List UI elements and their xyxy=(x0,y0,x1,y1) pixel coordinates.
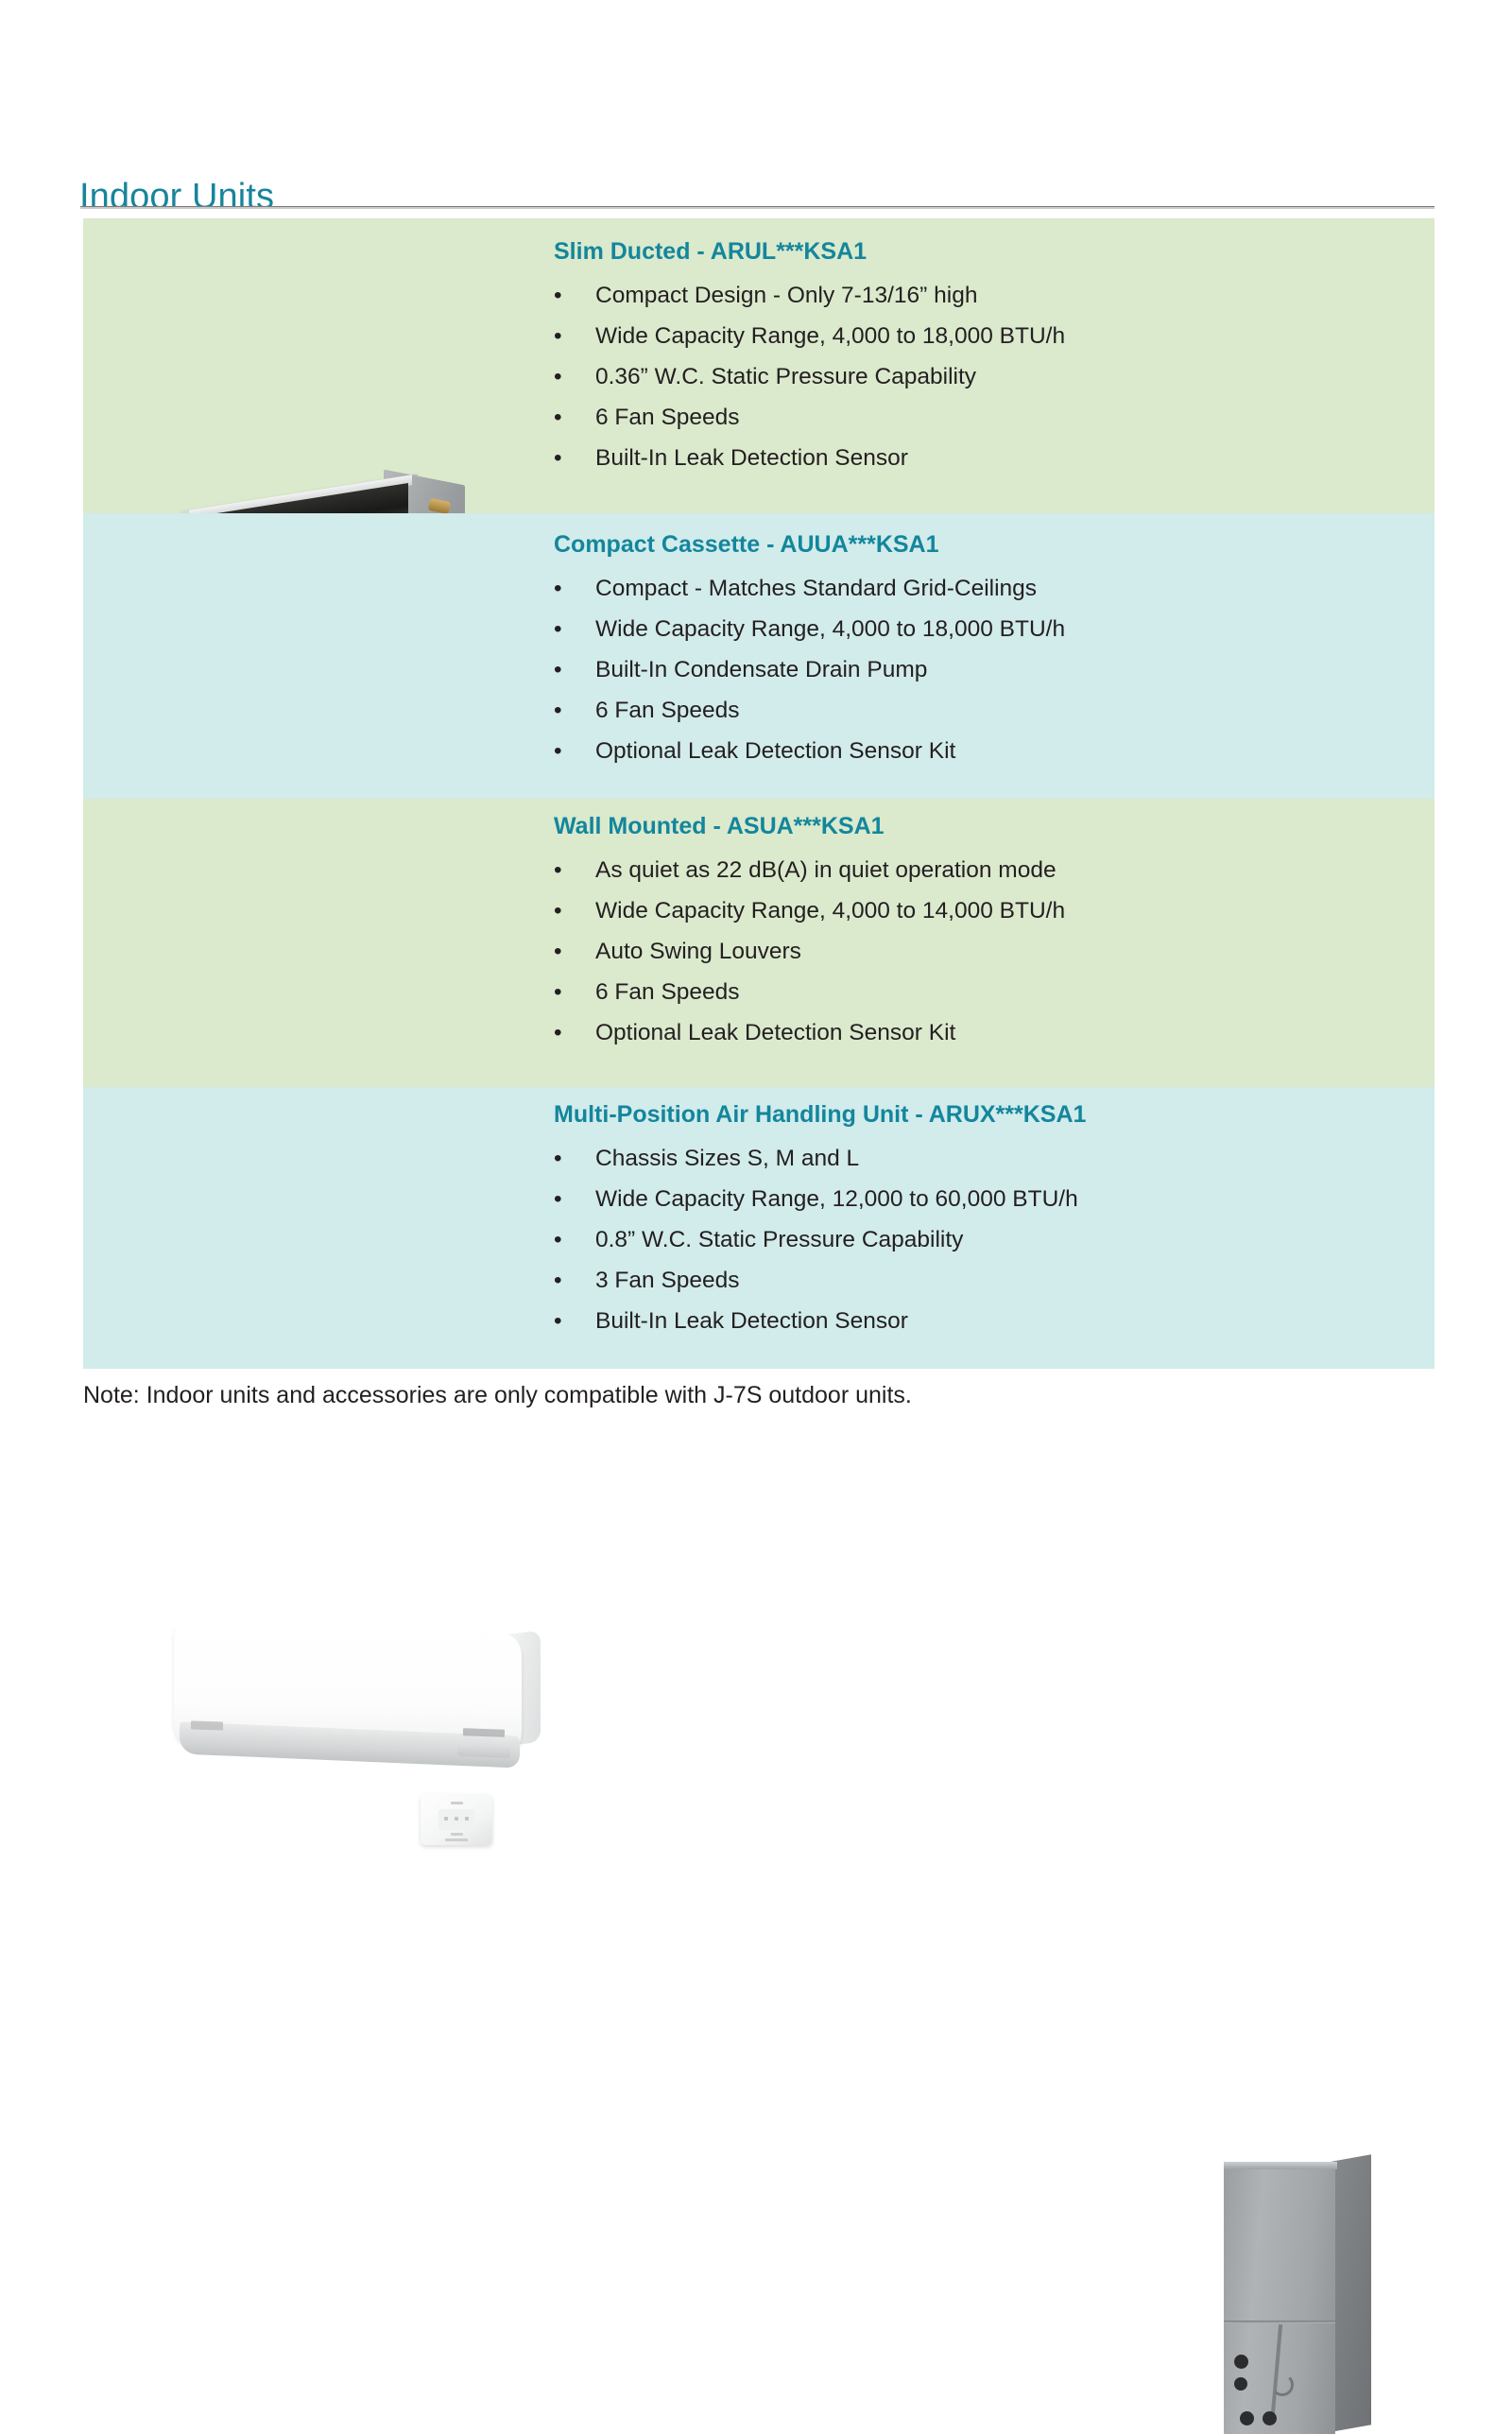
feature-text: Auto Swing Louvers xyxy=(595,939,801,964)
feature-list: • Compact - Matches Standard Grid-Ceilin… xyxy=(554,568,1140,771)
bullet-icon: • xyxy=(554,1138,562,1179)
feature-text: 0.36” W.C. Static Pressure Capability xyxy=(595,364,976,389)
feature-text: Built-In Condensate Drain Pump xyxy=(595,657,927,682)
bullet-icon: • xyxy=(554,931,562,972)
feature-item: • 6 Fan Speeds xyxy=(554,397,1140,438)
unit-text-air-handler: Multi-Position Air Handling Unit - ARUX*… xyxy=(554,1100,1140,1341)
feature-text: 3 Fan Speeds xyxy=(595,1268,740,1293)
title-divider xyxy=(80,206,1435,209)
feature-item: • Compact - Matches Standard Grid-Ceilin… xyxy=(554,568,1140,609)
bullet-icon: • xyxy=(554,609,562,649)
feature-item: • Wide Capacity Range, 4,000 to 14,000 B… xyxy=(554,890,1140,931)
feature-item: • Auto Swing Louvers xyxy=(554,931,1140,972)
feature-text: Built-In Leak Detection Sensor xyxy=(595,445,908,471)
bullet-icon: • xyxy=(554,275,562,316)
feature-list: • Compact Design - Only 7-13/16” high • … xyxy=(554,275,1140,478)
feature-item: • Built-In Condensate Drain Pump xyxy=(554,649,1140,690)
feature-text: Compact Design - Only 7-13/16” high xyxy=(595,283,977,308)
feature-item: • Built-In Leak Detection Sensor xyxy=(554,438,1140,478)
unit-heading: Wall Mounted - ASUA***KSA1 xyxy=(554,812,1140,840)
bullet-icon: • xyxy=(554,356,562,397)
feature-text: 6 Fan Speeds xyxy=(595,698,740,723)
feature-text: Wide Capacity Range, 4,000 to 14,000 BTU… xyxy=(595,898,1065,924)
bullet-icon: • xyxy=(554,316,562,356)
feature-text: Chassis Sizes S, M and L xyxy=(595,1146,859,1171)
feature-text: 0.8” W.C. Static Pressure Capability xyxy=(595,1227,963,1252)
unit-heading: Multi-Position Air Handling Unit - ARUX*… xyxy=(554,1100,1140,1129)
feature-item: • Chassis Sizes S, M and L xyxy=(554,1138,1140,1179)
wall-controller-icon xyxy=(421,1794,492,1845)
bullet-icon: • xyxy=(554,1179,562,1219)
unit-heading: Slim Ducted - ARUL***KSA1 xyxy=(554,237,1140,266)
bullet-icon: • xyxy=(554,731,562,771)
bullet-icon: • xyxy=(554,397,562,438)
unit-section-wall-mounted: Wall Mounted - ASUA***KSA1 • As quiet as… xyxy=(83,799,1435,1087)
bullet-icon: • xyxy=(554,850,562,890)
page-title: Indoor Units xyxy=(79,178,274,217)
unit-heading: Compact Cassette - AUUA***KSA1 xyxy=(554,530,1140,559)
feature-item: • 3 Fan Speeds xyxy=(554,1260,1140,1301)
bullet-icon: • xyxy=(554,568,562,609)
feature-text: Built-In Leak Detection Sensor xyxy=(595,1308,908,1334)
bullet-icon: • xyxy=(554,690,562,731)
bullet-icon: • xyxy=(554,1219,562,1260)
bullet-icon: • xyxy=(554,649,562,690)
feature-item: • Wide Capacity Range, 4,000 to 18,000 B… xyxy=(554,609,1140,649)
indoor-units-page: Indoor Units Slim Ducted - ARUL***KSA1 •… xyxy=(0,0,1512,1512)
feature-text: 6 Fan Speeds xyxy=(595,979,740,1005)
feature-text: Wide Capacity Range, 4,000 to 18,000 BTU… xyxy=(595,616,1065,642)
feature-text: Wide Capacity Range, 12,000 to 60,000 BT… xyxy=(595,1186,1078,1212)
feature-item: • Compact Design - Only 7-13/16” high xyxy=(554,275,1140,316)
wall-mounted-unit-photo xyxy=(174,1623,544,1776)
bullet-icon: • xyxy=(554,1012,562,1053)
air-handler-unit-photo xyxy=(1224,2158,1371,2434)
feature-item: • Built-In Leak Detection Sensor xyxy=(554,1301,1140,1341)
feature-item: • 0.8” W.C. Static Pressure Capability xyxy=(554,1219,1140,1260)
feature-item: • 6 Fan Speeds xyxy=(554,690,1140,731)
feature-item: • Wide Capacity Range, 4,000 to 18,000 B… xyxy=(554,316,1140,356)
unit-text-compact-cassette: Compact Cassette - AUUA***KSA1 • Compact… xyxy=(554,530,1140,771)
unit-text-wall-mounted: Wall Mounted - ASUA***KSA1 • As quiet as… xyxy=(554,812,1140,1053)
bullet-icon: • xyxy=(554,1301,562,1341)
feature-text: Wide Capacity Range, 4,000 to 18,000 BTU… xyxy=(595,323,1065,349)
unit-section-slim-ducted: Slim Ducted - ARUL***KSA1 • Compact Desi… xyxy=(83,218,1435,513)
feature-text: Optional Leak Detection Sensor Kit xyxy=(595,1020,955,1045)
feature-list: • As quiet as 22 dB(A) in quiet operatio… xyxy=(554,850,1140,1053)
feature-item: • As quiet as 22 dB(A) in quiet operatio… xyxy=(554,850,1140,890)
bullet-icon: • xyxy=(554,972,562,1012)
bullet-icon: • xyxy=(554,890,562,931)
feature-text: 6 Fan Speeds xyxy=(595,405,740,430)
bullet-icon: • xyxy=(554,438,562,478)
feature-text: Compact - Matches Standard Grid-Ceilings xyxy=(595,576,1037,601)
unit-section-air-handler: Multi-Position Air Handling Unit - ARUX*… xyxy=(83,1087,1435,1369)
unit-section-compact-cassette: Compact Cassette - AUUA***KSA1 • Compact… xyxy=(83,513,1435,799)
unit-text-slim-ducted: Slim Ducted - ARUL***KSA1 • Compact Desi… xyxy=(554,237,1140,478)
feature-item: • Optional Leak Detection Sensor Kit xyxy=(554,731,1140,771)
feature-item: • 6 Fan Speeds xyxy=(554,972,1140,1012)
feature-text: As quiet as 22 dB(A) in quiet operation … xyxy=(595,857,1057,883)
feature-item: • Optional Leak Detection Sensor Kit xyxy=(554,1012,1140,1053)
feature-text: Optional Leak Detection Sensor Kit xyxy=(595,738,955,764)
compatibility-note: Note: Indoor units and accessories are o… xyxy=(83,1382,912,1409)
feature-list: • Chassis Sizes S, M and L • Wide Capaci… xyxy=(554,1138,1140,1341)
feature-item: • 0.36” W.C. Static Pressure Capability xyxy=(554,356,1140,397)
bullet-icon: • xyxy=(554,1260,562,1301)
feature-item: • Wide Capacity Range, 12,000 to 60,000 … xyxy=(554,1179,1140,1219)
